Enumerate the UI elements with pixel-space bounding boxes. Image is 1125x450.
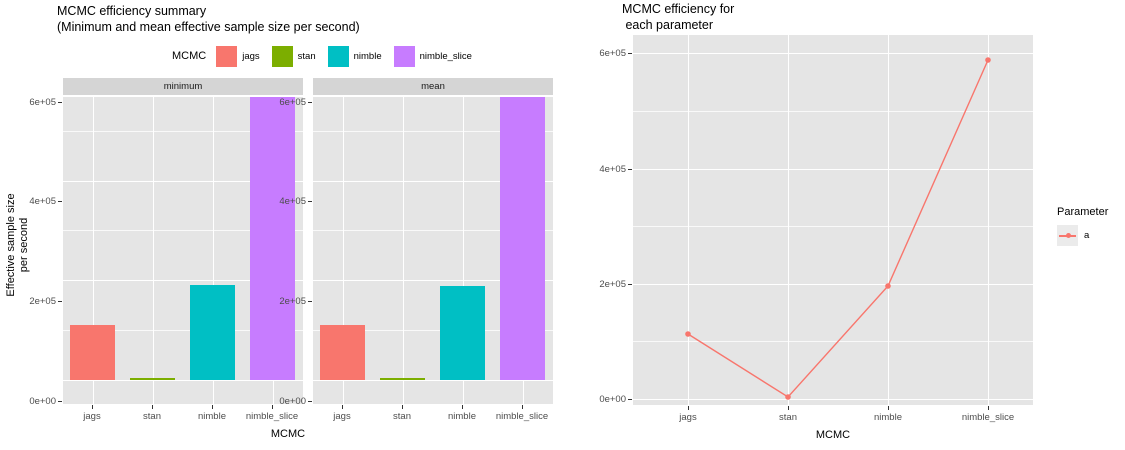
xtick-mark-mean-stan [402,405,403,409]
line-series-a [633,35,1033,405]
mid-ytick-label-0: 0e+00 [258,396,306,407]
legend-item-nimble-slice[interactable]: nimble_slice [394,46,476,67]
right-xtick-mark-jags [688,406,689,410]
right-plot-panel [633,35,1033,405]
gridline-y-0 [63,380,303,381]
right-xtick-mark-nimble [888,406,889,410]
xtick-mark-min-jags [92,405,93,409]
xtick-label-mean-nimble-slice: nimble_slice [482,411,562,422]
facet-strip-label: mean [421,81,445,92]
legend-item-jags[interactable]: jags [216,46,263,67]
mid-ytick-label-2: 4e+05 [258,196,306,207]
legend-label-a: a [1084,230,1089,241]
legend-swatch-a [1057,225,1078,246]
facet-strip-minimum: minimum [63,78,303,95]
bar-mean-nimble[interactable] [440,286,485,380]
right-ytick-mark-0 [628,399,632,400]
right-xtick-mark-nimble-slice [988,406,989,410]
left-ytick-mark-1 [58,301,62,302]
right-ytick-label-3: 6e+05 [578,48,626,59]
right-ytick-mark-2 [628,169,632,170]
facet-minimum: minimum [63,78,303,404]
data-point-a-jags[interactable] [685,331,691,337]
legend-label-nimble-slice: nimble_slice [420,51,472,62]
bar-minimum-nimble[interactable] [190,285,235,380]
facet-strip-mean: mean [313,78,553,95]
left-ytick-label-3: 6e+05 [8,97,56,108]
legend-label-stan: stan [298,51,316,62]
legend-item-nimble[interactable]: nimble [328,46,386,67]
legend-swatch-jags [216,46,237,67]
right-figure: MCMC efficiency for each parameter Effec… [580,0,1125,450]
right-xtick-mark-stan [788,406,789,410]
right-ytick-mark-1 [628,284,632,285]
legend-title: Parameter [1057,206,1108,218]
right-xtick-label-stan: stan [748,412,828,423]
gridline-y-0 [313,380,553,381]
legend-title: MCMC [172,50,206,62]
facet-mean: mean [313,78,553,404]
figure-container: MCMC efficiency summary (Minimum and mea… [0,0,1125,450]
right-ytick-mark-3 [628,53,632,54]
xtick-mark-min-stan [152,405,153,409]
line-path-a [688,60,988,397]
right-ytick-label-0: 0e+00 [578,394,626,405]
xtick-mark-mean-jags [342,405,343,409]
xtick-mark-min-nimble [212,405,213,409]
mid-ytick-mark-0 [308,401,312,402]
data-point-a-nimble-slice[interactable] [985,57,991,63]
left-figure-title: MCMC efficiency summary (Minimum and mea… [57,4,360,35]
legend-swatch-stan [272,46,293,67]
right-xtick-label-jags: jags [648,412,728,423]
right-x-axis-title: MCMC [778,429,888,441]
right-figure-title: MCMC efficiency for each parameter [622,2,734,33]
mid-ytick-mark-1 [308,301,312,302]
bar-mean-nimble-slice[interactable] [500,97,545,380]
legend-swatch-nimble [328,46,349,67]
left-ytick-label-1: 2e+05 [8,296,56,307]
gridline-x-stan [153,97,154,404]
legend-swatch-nimble-slice [394,46,415,67]
mid-ytick-mark-3 [308,102,312,103]
left-figure: MCMC efficiency summary (Minimum and mea… [0,0,580,450]
left-ytick-mark-3 [58,102,62,103]
xtick-label-min-nimble-slice: nimble_slice [232,411,312,422]
facet-strip-label: minimum [164,81,203,92]
bar-minimum-jags[interactable] [70,325,115,380]
right-xtick-label-nimble-slice: nimble_slice [948,412,1028,423]
legend-item-stan[interactable]: stan [272,46,320,67]
bar-minimum-stan[interactable] [130,378,175,380]
right-ytick-label-2: 4e+05 [578,164,626,175]
mid-ytick-label-3: 6e+05 [258,97,306,108]
left-ytick-mark-0 [58,401,62,402]
right-xtick-label-nimble: nimble [848,412,928,423]
xtick-mark-mean-nimble [462,405,463,409]
gridline-x-stan [403,97,404,404]
bar-mean-stan[interactable] [380,378,425,380]
left-ytick-mark-2 [58,201,62,202]
mid-ytick-mark-2 [308,201,312,202]
facet-panel-minimum [63,97,303,404]
right-ytick-label-1: 2e+05 [578,279,626,290]
facet-panel-mean [313,97,553,404]
legend-label-jags: jags [242,51,259,62]
mcmc-legend: MCMC jags stan nimble nimble_slice [172,44,484,68]
data-point-a-nimble[interactable] [885,283,891,289]
xtick-mark-mean-nimble-slice [522,405,523,409]
data-point-a-stan[interactable] [785,394,791,400]
legend-item-a[interactable]: a [1057,225,1108,246]
legend-label-nimble: nimble [354,51,382,62]
bar-minimum-nimble-slice[interactable] [250,97,295,380]
left-ytick-label-2: 4e+05 [8,196,56,207]
parameter-legend: Parameter a [1057,206,1108,246]
mid-ytick-label-1: 2e+05 [258,296,306,307]
bar-mean-jags[interactable] [320,325,365,380]
left-ytick-label-0: 0e+00 [8,396,56,407]
left-x-axis-title: MCMC [233,428,343,440]
